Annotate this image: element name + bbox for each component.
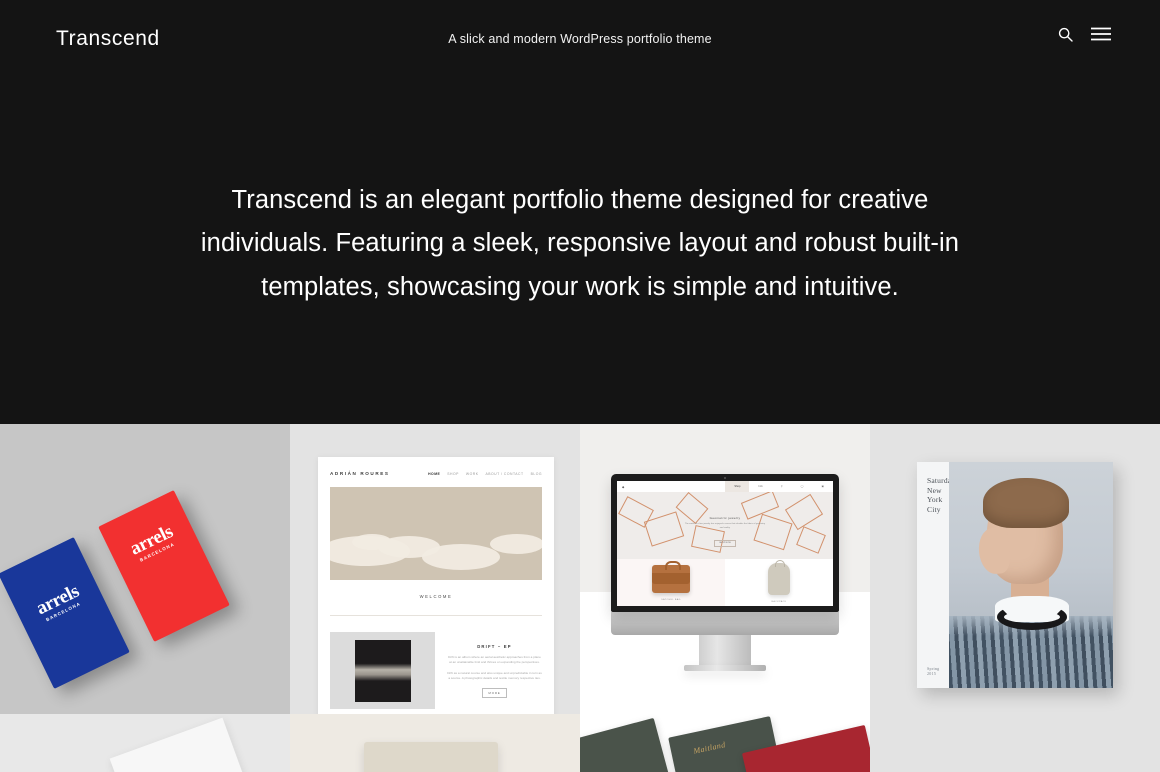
imac-stand	[699, 635, 751, 665]
mockup-project-paragraph: Drift is an album where an aerial aesthe…	[447, 655, 542, 665]
site-tagline: A slick and modern WordPress portfolio t…	[0, 31, 1160, 47]
backpack-image	[768, 563, 790, 595]
mockup-nav-item: HOME	[428, 472, 440, 476]
magazine-title: SaturdaysNew York City	[927, 476, 949, 514]
portfolio-item-arrels[interactable]: arrels BARCELONA arrels BARCELONA	[0, 424, 290, 714]
hamburger-menu-icon[interactable]	[1090, 26, 1112, 42]
shop-account-icon: ◯	[792, 481, 813, 492]
mockup-nav-item: WORK	[466, 472, 479, 476]
hero-description: Transcend is an elegant portfolio theme …	[200, 179, 960, 310]
shop-cart-icon: ▣	[813, 481, 833, 492]
shop-nav-bar: ◆ Shop Info ⚲ ◯ ▣	[617, 481, 833, 492]
mockup-nav-item: SHOP	[447, 472, 459, 476]
shop-logo: ◆	[622, 485, 625, 489]
shop-tab-shop: Shop	[725, 481, 749, 492]
portfolio-item-website-mockup[interactable]: ADRIÁN ROURES HOME SHOP WORK ABOUT / CON…	[290, 424, 580, 714]
shop-search-icon: ⚲	[772, 481, 792, 492]
mockup-nav-item: BLOG	[531, 472, 542, 476]
imac-viewport: ◆ Shop Info ⚲ ◯ ▣	[617, 481, 833, 606]
portfolio-item-empty[interactable]	[870, 714, 1160, 772]
imac-screen: ◆ Shop Info ⚲ ◯ ▣	[611, 474, 839, 612]
shop-headline: Geometric jewelry	[683, 516, 767, 520]
magazine-issue-date: Spring 2015	[927, 666, 949, 676]
mockup-logo: ADRIÁN ROURES	[330, 471, 390, 476]
notebook-blue: arrels BARCELONA	[0, 537, 130, 689]
notebook-red: arrels BARCELONA	[98, 490, 230, 642]
portfolio-grid: arrels BARCELONA arrels BARCELONA ADRIÁN…	[0, 424, 1160, 772]
magazine-photo	[949, 462, 1113, 688]
shop-product-label: BACKPACK	[772, 601, 787, 603]
theme-preview-page: Transcend A slick and modern WordPress p…	[0, 0, 1160, 772]
shop-hero-copy: Geometric jewelry The world of a fine je…	[683, 516, 767, 548]
mockup-nav: HOME SHOP WORK ABOUT / CONTACT BLOG	[428, 472, 542, 476]
header-icon-group	[1058, 26, 1112, 42]
magazine-cover: SaturdaysNew York City Spring 2015	[917, 462, 1113, 688]
shop-product-row: SATCHEL BAG BACKPACK	[617, 559, 833, 606]
mockup-project-row: DRIFT – EP Drift is an album where an ae…	[330, 632, 542, 709]
notepad	[364, 742, 498, 772]
satchel-bag-image	[652, 565, 690, 593]
envelope-script-text: Maitland	[693, 740, 727, 756]
shop-subcopy: The world of a fine jewelry has enjoyed …	[683, 523, 767, 530]
portfolio-item-magazine[interactable]: SaturdaysNew York City Spring 2015	[870, 424, 1160, 714]
envelope-green: 2. LETTER AND CARDSERIES, NOT INDEX	[580, 718, 674, 772]
website-mockup-card: ADRIÁN ROURES HOME SHOP WORK ABOUT / CON…	[318, 457, 554, 714]
mockup-divider	[330, 615, 542, 616]
imac-device: ◆ Shop Info ⚲ ◯ ▣	[611, 474, 839, 671]
webcam-icon	[724, 477, 726, 479]
shop-hero-jewelry: Geometric jewelry The world of a fine je…	[617, 492, 833, 559]
site-header: Transcend A slick and modern WordPress p…	[0, 0, 1160, 78]
mockup-more-button: MORE	[482, 688, 506, 698]
shop-product-label: SATCHEL BAG	[661, 599, 680, 601]
search-icon[interactable]	[1058, 27, 1073, 42]
hero-section: Transcend is an elegant portfolio theme …	[0, 78, 1160, 424]
mockup-hero-image	[330, 487, 542, 580]
magazine-spine: SaturdaysNew York City Spring 2015	[917, 462, 949, 688]
mockup-project-title: DRIFT – EP	[447, 644, 542, 649]
shop-tab-info: Info	[749, 481, 771, 492]
mockup-project-paragraph: Drift as a natural course and also uniqu…	[447, 671, 542, 681]
shop-cta-button: SHOP NOW	[714, 540, 736, 547]
mockup-welcome-label: WELCOME	[318, 594, 554, 599]
imac-foot	[684, 665, 766, 671]
shop-nav-tabs: Shop Info ⚲ ◯ ▣	[725, 481, 833, 492]
mockup-project-thumbnail	[330, 632, 435, 709]
mockup-header: ADRIÁN ROURES HOME SHOP WORK ABOUT / CON…	[318, 457, 554, 476]
portfolio-item-imac-mockup[interactable]: ◆ Shop Info ⚲ ◯ ▣	[580, 424, 870, 714]
portfolio-item-notepad[interactable]	[290, 714, 580, 772]
imac-chin	[611, 612, 839, 635]
portfolio-item-paper-sheet[interactable]	[0, 714, 290, 772]
mockup-project-copy: DRIFT – EP Drift is an album where an ae…	[447, 632, 542, 709]
mockup-nav-item: ABOUT / CONTACT	[485, 472, 523, 476]
shop-product-satchel: SATCHEL BAG	[617, 559, 725, 606]
paper-sheet	[110, 718, 247, 772]
portfolio-item-envelopes[interactable]: 2. LETTER AND CARDSERIES, NOT INDEX Mait…	[580, 714, 870, 772]
shop-product-backpack: BACKPACK	[725, 559, 833, 606]
